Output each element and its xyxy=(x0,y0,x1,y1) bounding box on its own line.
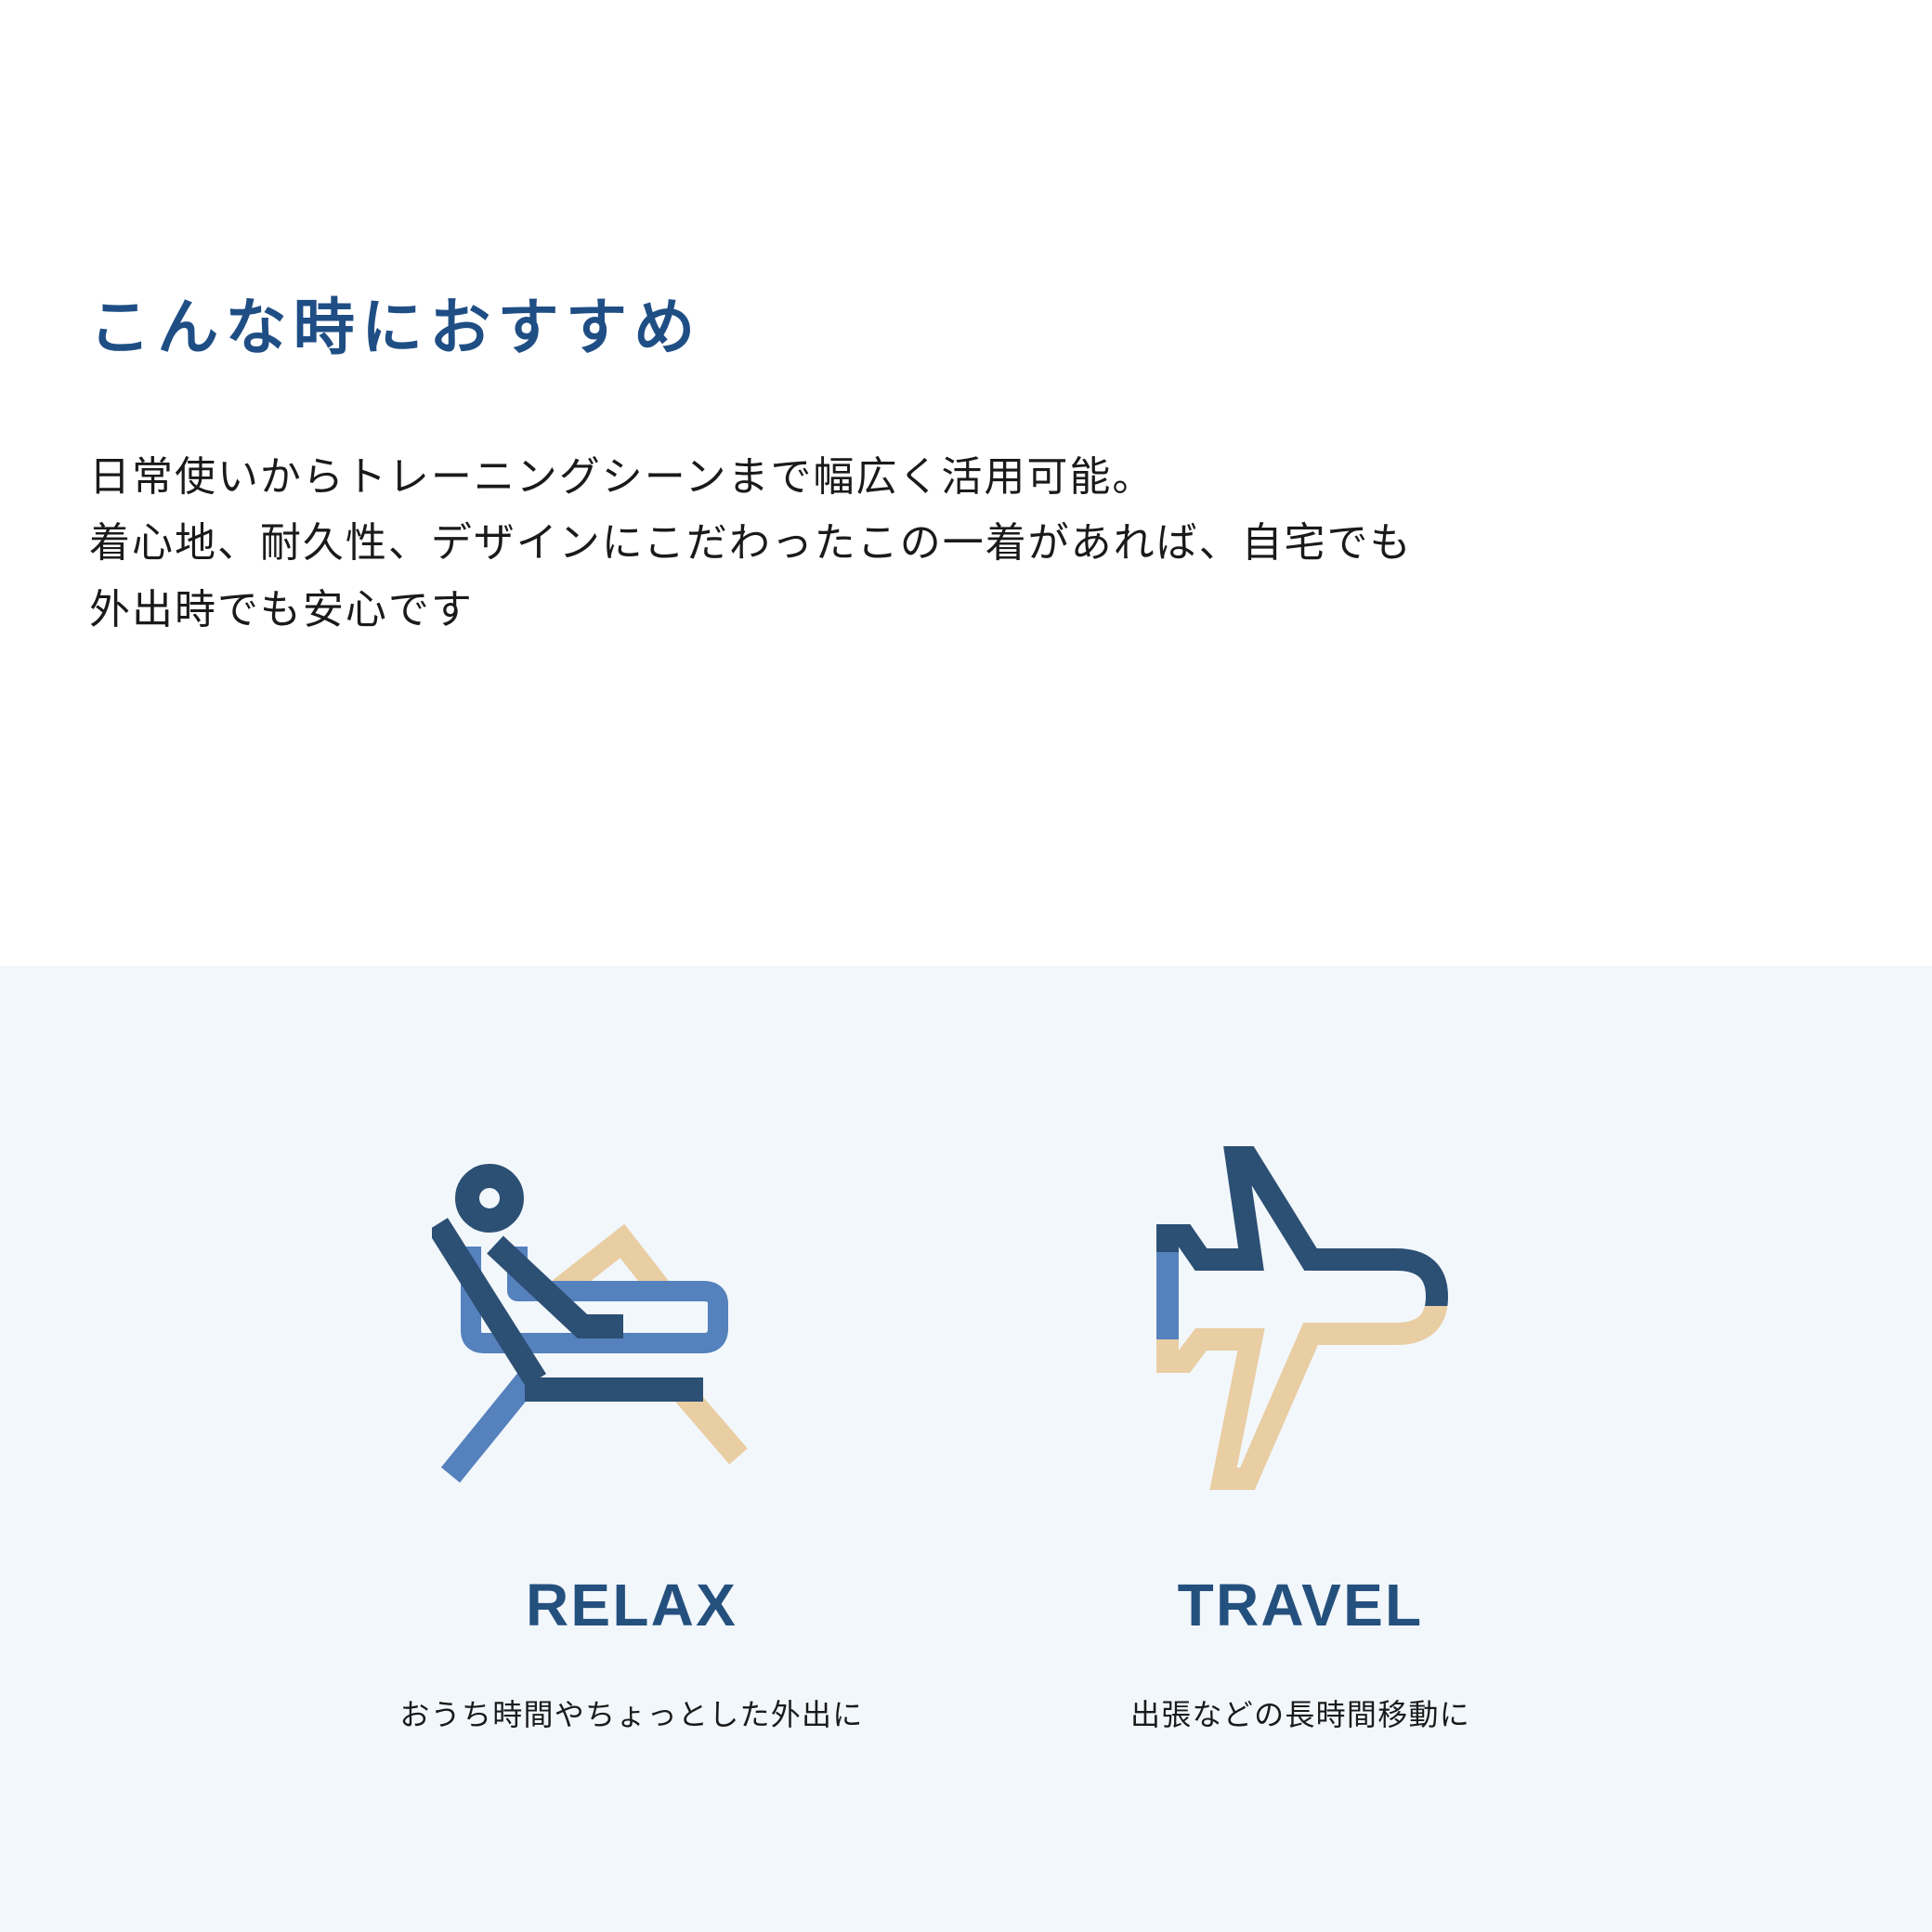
airplane-icon xyxy=(1087,1142,1514,1514)
lounge-chair-icon xyxy=(418,1142,845,1514)
page-title: こんな時におすすめ xyxy=(89,294,701,361)
scene-card-travel: TRAVEL 出張などの長時間移動に xyxy=(1003,966,1598,1730)
scene-caption-relax: おうち時間やちょっとした外出に xyxy=(399,1700,863,1730)
intro-description-line: 外出時でも安心です xyxy=(89,577,1413,643)
scene-caption-travel: 出張などの長時間移動に xyxy=(1130,1700,1470,1730)
promo-page: こんな時におすすめ 日常使いからトレーニングシーンまで幅広く活用可能。 着心地、… xyxy=(0,0,1932,1932)
intro-section: こんな時におすすめ 日常使いからトレーニングシーンまで幅広く活用可能。 着心地、… xyxy=(0,0,1932,966)
scene-title-travel: TRAVEL xyxy=(1178,1575,1424,1635)
scene-title-relax: RELAX xyxy=(526,1575,738,1635)
scenes-section: RELAX おうち時間やちょっとした外出に xyxy=(0,966,1932,1932)
scene-card-relax: RELAX おうち時間やちょっとした外出に xyxy=(334,966,929,1730)
intro-description-line: 日常使いからトレーニングシーンまで幅広く活用可能。 xyxy=(89,444,1413,510)
intro-description: 日常使いからトレーニングシーンまで幅広く活用可能。 着心地、耐久性、デザインにこ… xyxy=(89,444,1413,643)
intro-description-line: 着心地、耐久性、デザインにこだわったこの一着があれば、自宅でも xyxy=(89,510,1413,576)
